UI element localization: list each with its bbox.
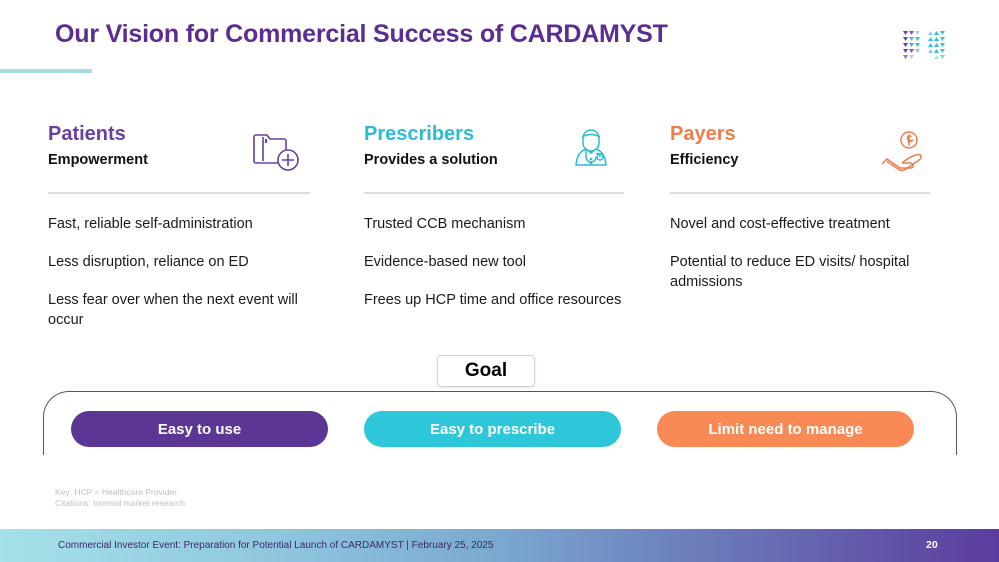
footnote-key: Key: HCP = Healthcare Provider — [55, 487, 185, 498]
hand-holding-dollar-icon — [876, 128, 930, 180]
footer-text: Commercial Investor Event: Preparation f… — [58, 540, 493, 551]
goal-label-box: Goal — [437, 355, 535, 387]
bullet-text: Trusted CCB mechanism — [364, 214, 624, 234]
doctor-stethoscope-icon — [564, 124, 618, 176]
column-header-prescribers: Prescribers Provides a solution — [364, 122, 624, 184]
column-payers: Payers Efficiency Novel and cost-effecti… — [670, 122, 930, 310]
column-body-prescribers: Trusted CCB mechanism Evidence-based new… — [364, 214, 624, 310]
bowtie-butterfly-logo — [903, 27, 945, 63]
folder-plus-icon — [250, 124, 304, 176]
footnote-citations: Citations: Internal market research — [55, 498, 185, 509]
column-body-patients: Fast, reliable self-administration Less … — [48, 214, 310, 330]
column-prescribers: Prescribers Provides a solution — [364, 122, 624, 310]
column-divider — [670, 192, 930, 194]
column-patients: Patients Empowerment Fast, reliable self… — [48, 122, 310, 330]
footnotes: Key: HCP = Healthcare Provider Citations… — [55, 487, 185, 509]
goal-pill-easy-to-use[interactable]: Easy to use — [71, 411, 328, 447]
bullet-text: Novel and cost-effective treatment — [670, 214, 930, 234]
bullet-text: Frees up HCP time and office resources — [364, 290, 624, 310]
title-accent-rule — [0, 69, 92, 73]
page-number: 20 — [926, 539, 938, 551]
column-header-payers: Payers Efficiency — [670, 122, 930, 184]
bullet-text: Potential to reduce ED visits/ hospital … — [670, 252, 930, 292]
column-body-payers: Novel and cost-effective treatment Poten… — [670, 214, 930, 292]
bullet-text: Less fear over when the next event will … — [48, 290, 310, 330]
bullet-text: Fast, reliable self-administration — [48, 214, 310, 234]
column-divider — [48, 192, 310, 194]
bullet-text: Evidence-based new tool — [364, 252, 624, 272]
goal-pill-easy-to-prescribe[interactable]: Easy to prescribe — [364, 411, 621, 447]
column-header-patients: Patients Empowerment — [48, 122, 310, 184]
slide-canvas: Our Vision for Commercial Success of CAR… — [0, 0, 999, 562]
page-title: Our Vision for Commercial Success of CAR… — [55, 20, 668, 49]
goal-pill-limit-need-to-manage[interactable]: Limit need to manage — [657, 411, 914, 447]
bullet-text: Less disruption, reliance on ED — [48, 252, 310, 272]
column-divider — [364, 192, 624, 194]
